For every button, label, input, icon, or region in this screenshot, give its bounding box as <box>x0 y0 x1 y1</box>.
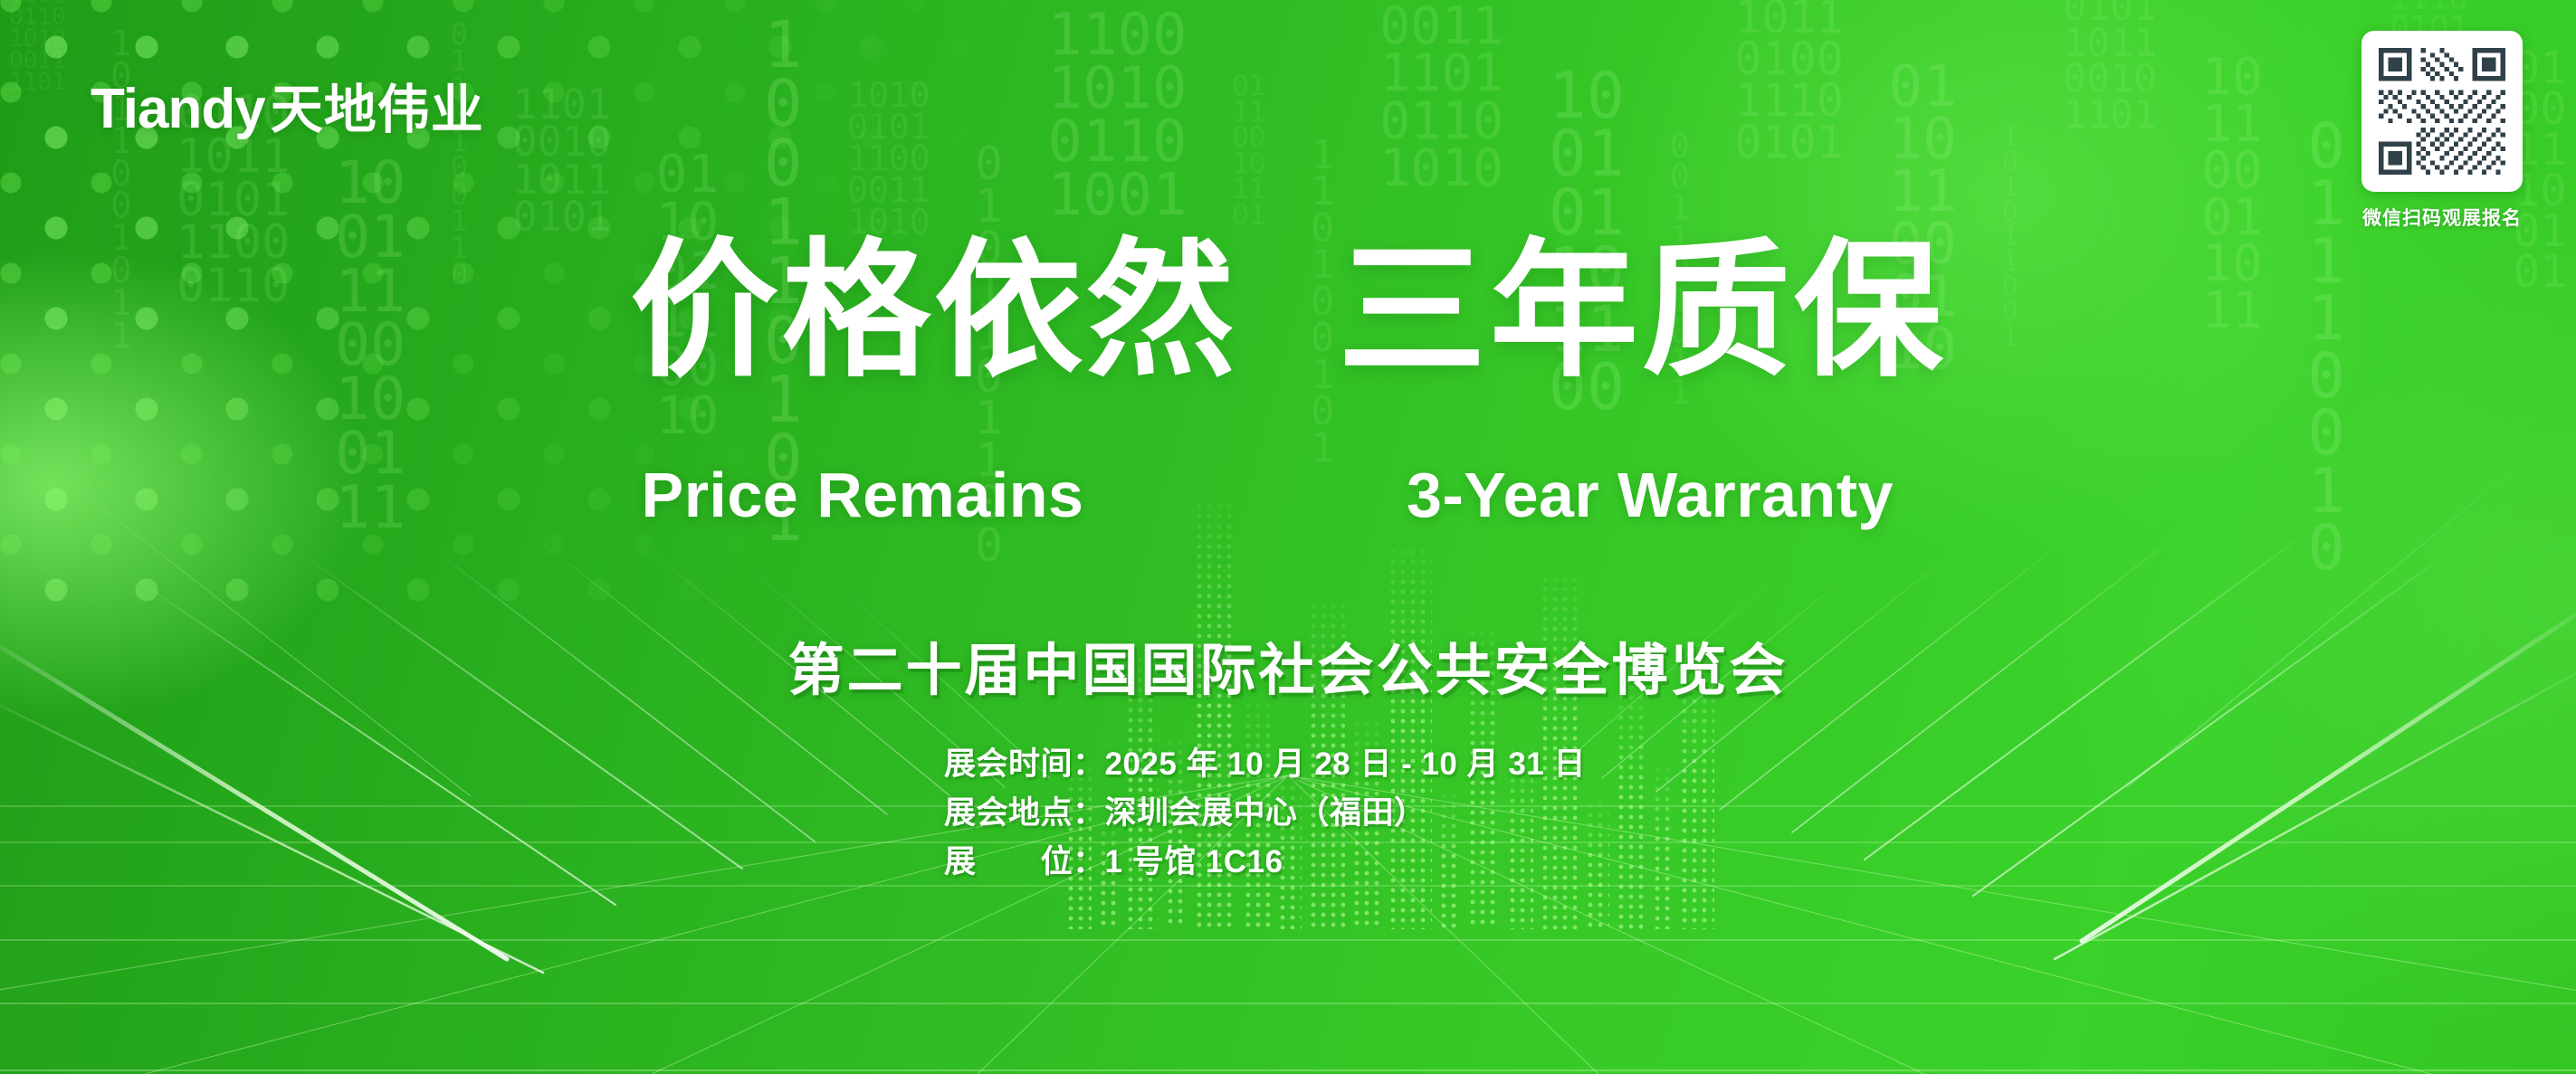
promo-banner: 0101 1001 0110 1010 0011 11011 0 1 1 0 0… <box>0 0 2576 1074</box>
subheadline-right-en: 3-Year Warranty <box>1306 463 1994 527</box>
headline-left-cn: 价格依然 <box>630 237 1238 385</box>
subheadline-left-en: Price Remains <box>582 463 1143 527</box>
brand-logo: Tiandy天地伟业 <box>91 67 484 143</box>
headline-row: 价格依然 三年质保 <box>0 237 2576 385</box>
headline-right-cn: 三年质保 <box>1338 237 1946 385</box>
qr-code-icon[interactable] <box>2361 31 2523 192</box>
event-detail-line: 展会地点：深圳会展中心（福田） <box>944 789 1586 838</box>
event-details: 展会时间：2025 年 10 月 28 日 - 10 月 31 日展会地点：深圳… <box>944 740 1586 887</box>
event-title: 第二十届中国国际社会公共安全博览会 <box>0 624 2576 706</box>
qr-registration-block[interactable]: 微信扫码观展报名 <box>2356 31 2528 231</box>
qr-caption-label: 微信扫码观展报名 <box>2356 204 2528 231</box>
subheadline-row: Price Remains 3-Year Warranty <box>0 463 2576 527</box>
event-detail-line: 展会时间：2025 年 10 月 28 日 - 10 月 31 日 <box>944 740 1586 789</box>
event-detail-line: 展 位：1 号馆 1C16 <box>944 838 1586 887</box>
logo-latin-text: Tiandy <box>91 78 265 140</box>
logo-chinese-text: 天地伟业 <box>271 81 484 139</box>
